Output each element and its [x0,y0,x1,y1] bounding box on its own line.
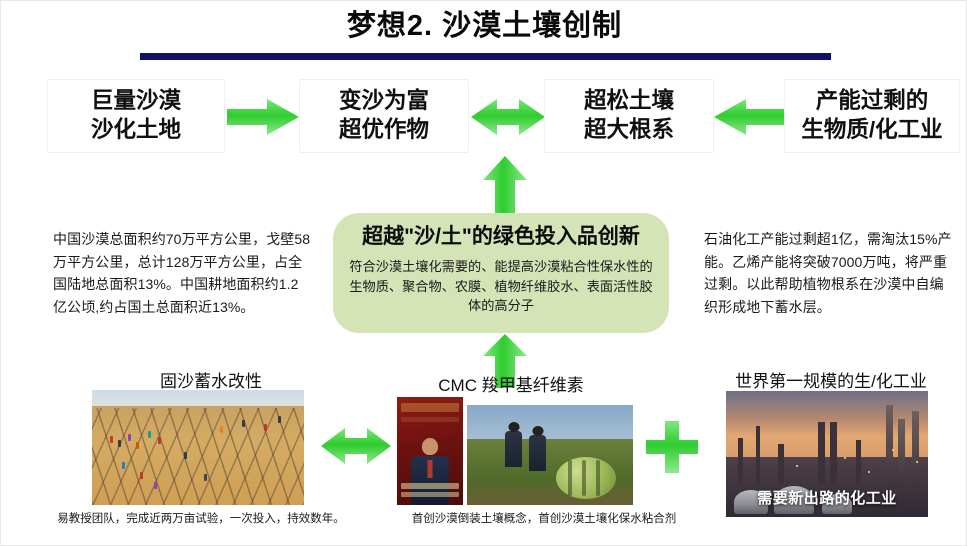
photo-desert-sand-barrier [92,390,304,505]
poster-footer-band [401,483,459,489]
desert-worker [110,436,113,443]
desert-worker [154,482,157,489]
arrow-bidirectional-icon-bottom [321,425,391,467]
industry-distillation-tower [912,411,919,489]
industry-distillation-tower [886,405,893,489]
section-label-cmc: CMC 羧甲基纤维素 [371,371,651,396]
desert-straw-grid [92,408,304,505]
title-underline-rule [140,53,831,60]
industry-smokestack [778,444,784,484]
desert-worker [158,437,161,444]
desert-worker [204,474,207,481]
plus-icon [646,421,698,473]
poster-title-band [401,403,459,412]
right-statistics-paragraph: 石油化工产能过剩超1亿，需淘汰15%产能。乙烯产能将突破7000万吨，将严重过剩… [704,228,954,319]
top-box-loose-soil[interactable]: 超松土壤 超大根系 [544,79,714,153]
desert-worker [184,452,187,459]
photo-overlay-caption: 需要新出路的化工业 [726,487,928,508]
industry-smokestack [818,422,825,484]
photo-chemical-plant: 需要新出路的化工业 [726,391,928,517]
top-box-label: 巨量沙漠 沙化土地 [91,87,181,145]
slide-canvas: 梦想2. 沙漠土壤创制 巨量沙漠 沙化土地 变沙为富 超优作物 [0,0,967,546]
industry-smokestack [756,426,760,484]
melon-sky [467,405,633,443]
desert-worker [136,442,139,449]
top-box-label: 超松土壤 超大根系 [584,87,674,145]
top-box-sand-to-wealth[interactable]: 变沙为富 超优作物 [299,79,469,153]
desert-worker [242,420,245,427]
desert-worker [220,426,223,433]
desert-worker [264,424,267,431]
poster-portrait-tie [428,460,433,478]
industry-smokestack [830,422,837,484]
center-panel-title: 超越"沙/土"的绿色投入品创新 [349,224,653,250]
poster-portrait-head [422,438,438,455]
top-box-label: 变沙为富 超优作物 [339,87,429,145]
melon-field-person [505,431,522,467]
center-panel-body: 符合沙漠土壤化需要的、能提高沙漠粘合性保水性的生物质、聚合物、农膜、植物纤维胶水… [349,257,653,316]
page-title: 梦想2. 沙漠土壤创制 [1,9,967,44]
left-statistics-paragraph: 中国沙漠总面积约70万平方公里，戈壁58万平方公里，总计128万平方公里，占全国… [53,228,311,319]
desert-worker [278,416,281,423]
page-title-text: 梦想2. 沙漠土壤创制 [1,9,967,44]
center-green-panel[interactable]: 超越"沙/土"的绿色投入品创新 符合沙漠土壤化需要的、能提高沙漠粘合性保水性的生… [333,213,669,333]
industry-smokestack [856,440,861,484]
poster-footer-band-2 [401,492,459,497]
desert-worker [118,440,121,447]
caption-sand-fixation: 易教授团队，完成近两万亩试验，一次投入，持效数年。 [41,510,361,526]
desert-worker [140,472,143,479]
desert-worker [148,431,151,438]
caption-cmc: 首创沙漠倒装土壤概念，首创沙漠土壤化保水粘合剂 [379,510,709,526]
melon-field-person [529,435,546,471]
industry-smokestack [738,438,743,484]
desert-worker [122,462,125,469]
arrow-up-icon-top [483,156,527,214]
desert-worker [128,434,131,441]
section-label-sand-fixation: 固沙蓄水改性 [61,367,361,392]
arrow-bidirectional-icon [471,95,545,139]
industry-distillation-tower [898,419,905,489]
top-box-label: 产能过剩的 生物质/化工业 [801,87,942,145]
top-box-desert-land[interactable]: 巨量沙漠 沙化土地 [47,79,225,153]
photo-watermelon-field [467,405,633,505]
section-label-chemical-industry: 世界第一规模的生/化工业 [701,367,961,392]
photo-award-poster [397,397,463,505]
arrow-left-icon [714,97,786,137]
arrow-right-icon [227,97,299,137]
top-box-overcapacity-industry[interactable]: 产能过剩的 生物质/化工业 [784,79,960,153]
poster-subtitle-band [401,417,459,422]
watermelon-fruit [556,457,616,499]
